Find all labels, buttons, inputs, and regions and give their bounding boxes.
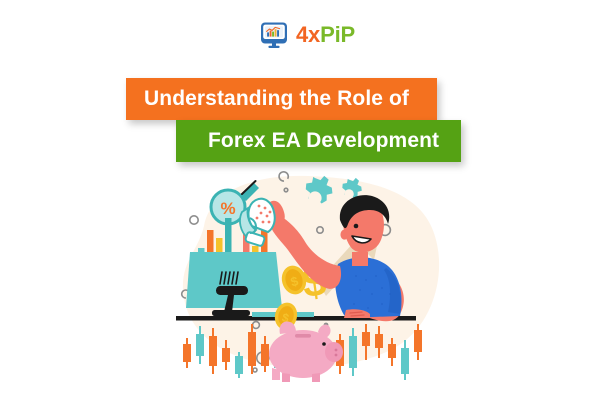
title-banner-line-1-text: Understanding the Role of (144, 87, 409, 111)
logo-text-primary: 4x (296, 22, 320, 47)
title-banner-line-2: Forex EA Development (176, 120, 461, 162)
title-banner-line-2-text: Forex EA Development (208, 129, 439, 153)
logo-wordmark: 4xPiP (296, 24, 355, 46)
monitor (186, 252, 282, 316)
svg-text:%: % (220, 199, 235, 218)
title-banner-group: Understanding the Role of Forex EA Devel… (0, 78, 615, 166)
title-banner-line-1: Understanding the Role of (126, 78, 437, 120)
site-logo[interactable]: 4xPiP (0, 18, 615, 52)
monitor-bar-chart-icon (260, 21, 288, 49)
forex-ea-trading-illustration: % $ (160, 168, 450, 383)
logo-text-secondary: PiP (320, 22, 355, 47)
